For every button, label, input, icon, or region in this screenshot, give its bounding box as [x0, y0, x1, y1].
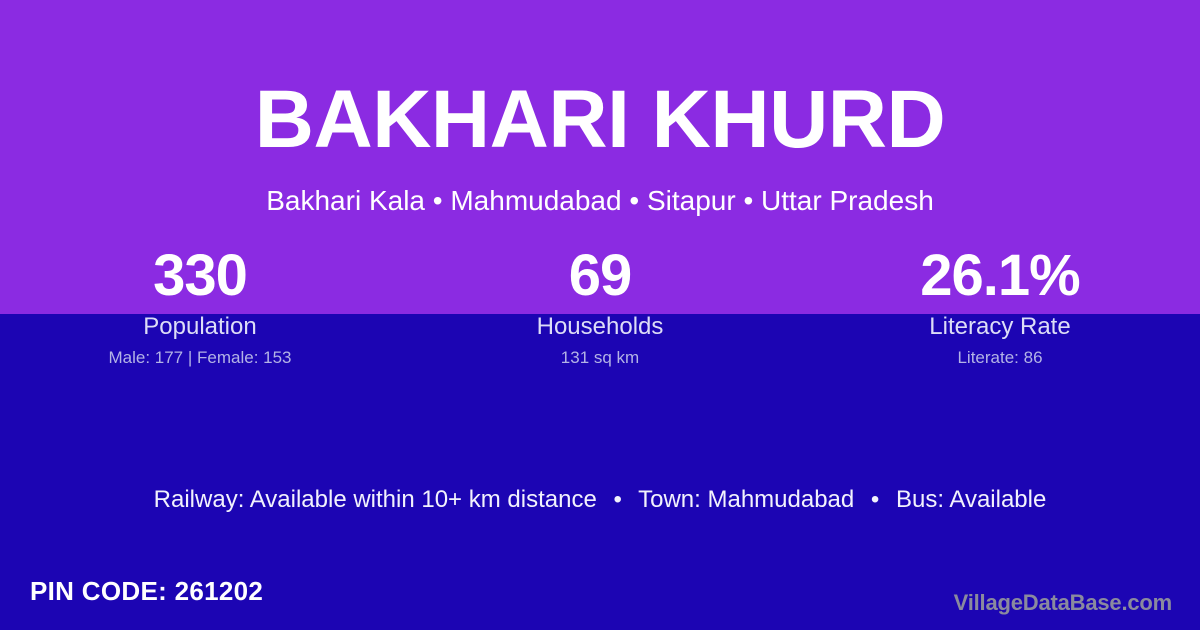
site-watermark: VillageDataBase.com — [954, 590, 1172, 616]
stat-value-literacy-rate: 26.1% — [800, 245, 1200, 307]
stat-value-households: 69 — [400, 245, 800, 307]
pin-code: PIN CODE: 261202 — [30, 576, 263, 606]
amenity-bus: Bus: Available — [896, 486, 1046, 513]
stat-value-population: 330 — [0, 245, 400, 307]
stat-sub-literacy-rate: Literate: 86 — [800, 348, 1200, 368]
breadcrumb: Bakhari Kala • Mahmudabad • Sitapur • Ut… — [0, 183, 1200, 218]
amenity-separator-1: • — [603, 486, 631, 513]
stat-households: 69 Households 131 sq km — [400, 245, 800, 385]
amenity-town: Town: Mahmudabad — [638, 486, 854, 513]
stat-label-population: Population — [0, 313, 400, 341]
amenities-row: Railway: Available within 10+ km distanc… — [0, 486, 1200, 514]
stat-sub-population: Male: 177 | Female: 153 — [0, 348, 400, 368]
stat-sub-households: 131 sq km — [400, 348, 800, 368]
stat-literacy-rate: 26.1% Literacy Rate Literate: 86 — [800, 245, 1200, 385]
page-title: BAKHARI KHURD — [0, 79, 1200, 161]
amenity-separator-2: • — [861, 486, 889, 513]
village-info-card: BAKHARI KHURD Bakhari Kala • Mahmudabad … — [0, 0, 1200, 630]
stat-label-literacy-rate: Literacy Rate — [800, 313, 1200, 341]
stat-population: 330 Population Male: 177 | Female: 153 — [0, 245, 400, 385]
stats-row: 330 Population Male: 177 | Female: 153 6… — [0, 245, 1200, 385]
stat-label-households: Households — [400, 313, 800, 341]
amenity-railway: Railway: Available within 10+ km distanc… — [154, 486, 597, 513]
